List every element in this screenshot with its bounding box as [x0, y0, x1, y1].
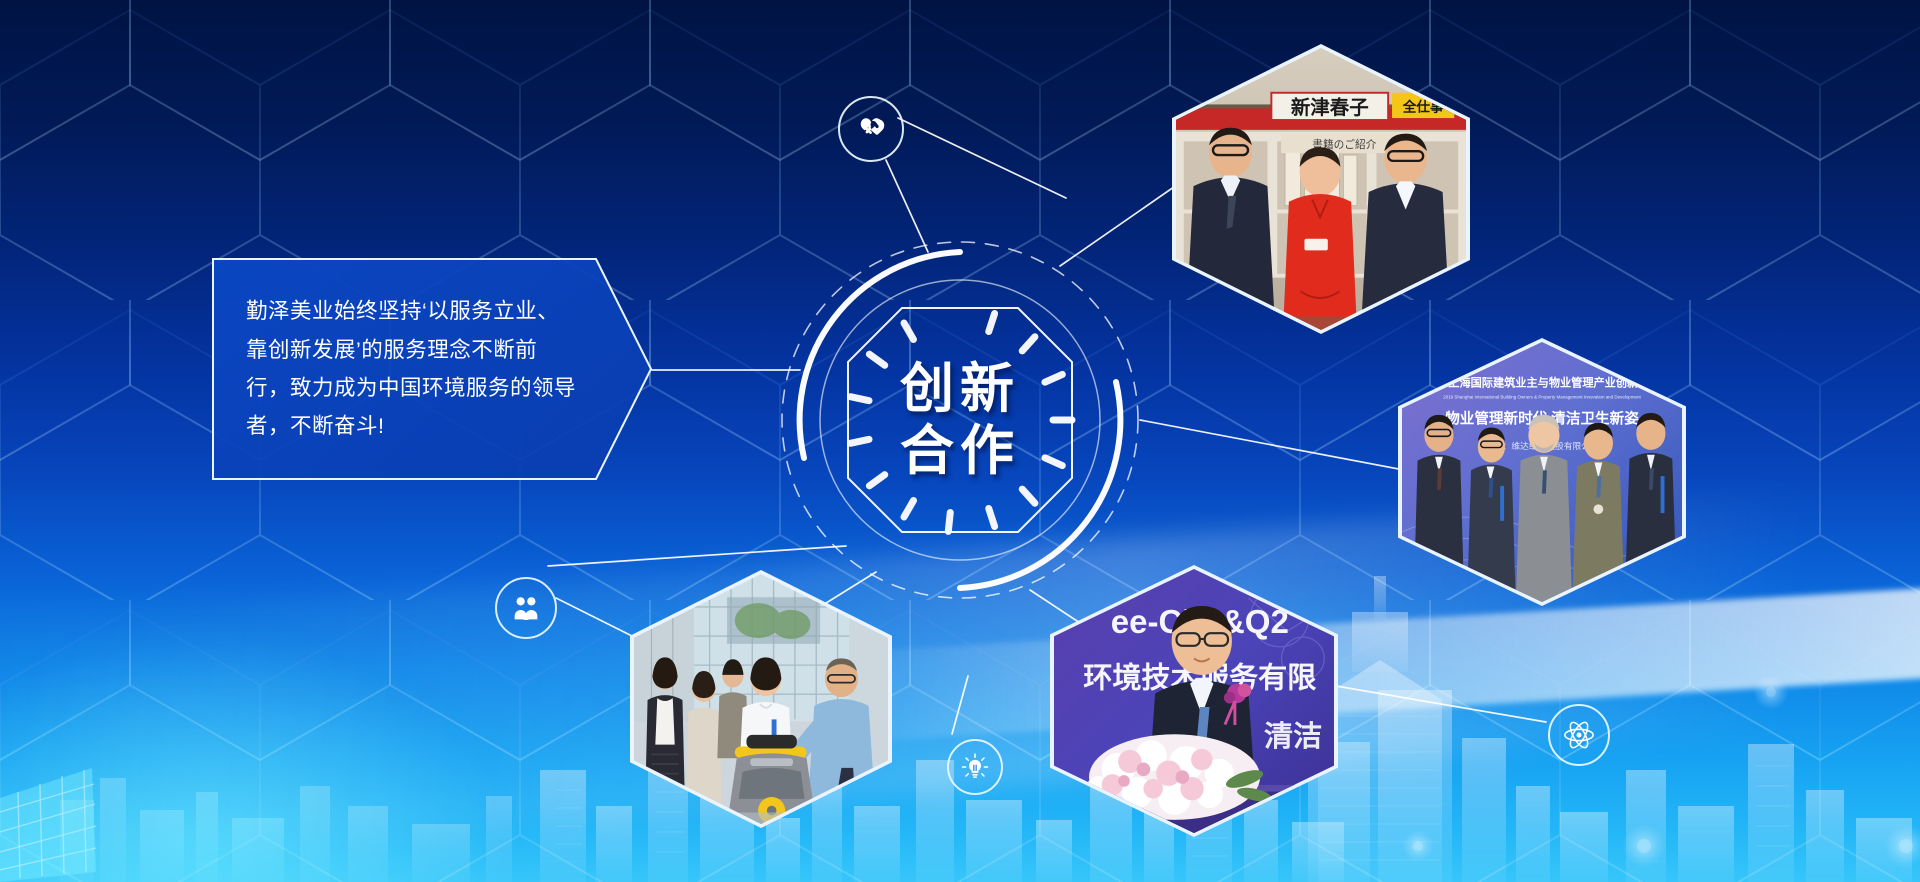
- photo-scene-training: [634, 574, 888, 824]
- hex-clip: 新津春子 全仕事 書籍のご紹介: [1176, 48, 1466, 330]
- keynote-banner-line-3: 清洁: [1264, 720, 1322, 753]
- quote-line-3: 行，致力成为中国环境服务的领导: [246, 369, 596, 407]
- node-handshake-heart[interactable]: [838, 96, 904, 162]
- skyline-left-grid: [0, 768, 96, 882]
- hex-clip: ee-Clo &Q2 环境技术服务有限 清洁 服务业联盟系列活动: [1054, 569, 1334, 833]
- node-atom[interactable]: [1548, 704, 1610, 766]
- bottom-left-glow: [0, 622, 520, 882]
- floor-scrubber: [727, 735, 816, 824]
- forum-banner-line-2: 2019 Shanghai International Building Own…: [1443, 394, 1641, 399]
- innovation-cooperation-hub: 创新 合作: [770, 230, 1150, 610]
- photo-scene-japan-visit: 新津春子 全仕事 書籍のご紹介: [1176, 48, 1466, 330]
- quote-plate: 勤泽美业始终坚持‘以服务立业、 靠创新发展’的服务理念不断前 行，致力成为中国环…: [212, 258, 652, 480]
- hexagon-photo-equipment-training[interactable]: [630, 570, 892, 828]
- photo-scene-2019-forum: 2019上海国际建筑业主与物业管理产业创新发展 2019 Shanghai In…: [1402, 342, 1682, 602]
- hexagon-photo-keynote-speech[interactable]: ee-Clo &Q2 环境技术服务有限 清洁 服务业联盟系列活动: [1050, 565, 1338, 837]
- handshake-heart-icon: [854, 112, 888, 146]
- quote-line-2: 靠创新发展’的服务理念不断前: [246, 331, 596, 369]
- hex-clip: [634, 574, 888, 824]
- hub-line-2: 合作: [900, 423, 1020, 479]
- hex-clip: 2019上海国际建筑业主与物业管理产业创新发展 2019 Shanghai In…: [1402, 342, 1682, 602]
- photo-sign-badge: 全仕事: [1402, 98, 1444, 114]
- lightbulb-icon: [960, 752, 990, 782]
- two-people-icon: [510, 592, 542, 624]
- quote-line-4: 者，不断奋斗!: [246, 407, 596, 445]
- photo-scene-keynote: ee-Clo &Q2 环境技术服务有限 清洁 服务业联盟系列活动: [1054, 569, 1334, 833]
- banner-root: 勤泽美业始终坚持‘以服务立业、 靠创新发展’的服务理念不断前 行，致力成为中国环…: [0, 0, 1920, 882]
- atom-icon: [1562, 718, 1596, 752]
- hub-line-1: 创新: [900, 361, 1020, 417]
- node-lightbulb[interactable]: [947, 739, 1003, 795]
- quote-text: 勤泽美业始终坚持‘以服务立业、 靠创新发展’的服务理念不断前 行，致力成为中国环…: [246, 286, 596, 452]
- photo-sign-title: 新津春子: [1291, 96, 1369, 119]
- hexnet-glow-nodes: [1276, 674, 1920, 868]
- node-two-people[interactable]: [495, 577, 557, 639]
- hexagon-photo-2019-forum[interactable]: 2019上海国际建筑业主与物业管理产业创新发展 2019 Shanghai In…: [1398, 338, 1686, 606]
- hexagon-photo-japan-visit[interactable]: 新津春子 全仕事 書籍のご紹介: [1172, 44, 1470, 334]
- quote-line-1: 勤泽美业始终坚持‘以服务立业、: [246, 292, 596, 330]
- hub-label: 创新 合作: [770, 230, 1150, 610]
